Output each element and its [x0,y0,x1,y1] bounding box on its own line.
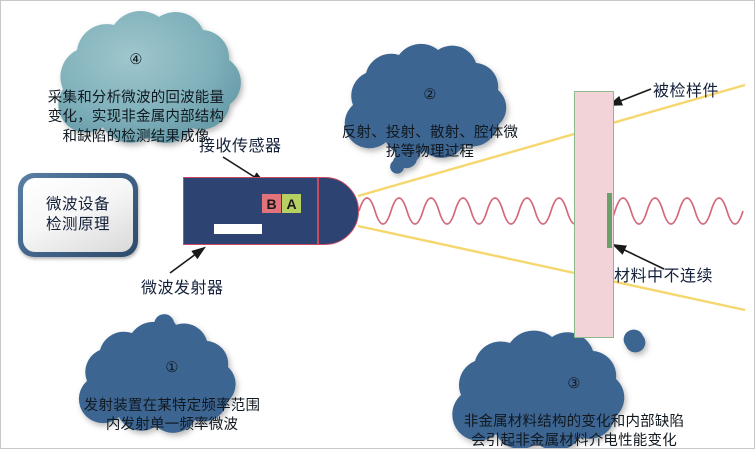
title-box-inner: 微波设备 检测原理 [23,178,133,252]
cloud-4-text: 采集和分析微波的回波能量 变化，实现非金属内部结构 和缺陷的检测结果成像 [48,90,224,145]
cloud-1-number: ① [73,359,271,377]
cloud-3-text: 非金属材料结构的变化和内部缺陷 会引起非金属材料介电性能变化 [464,414,685,449]
callout-test-specimen: 被检样件 [653,77,719,101]
microwave-inspection-diagram: 微波设备 检测原理 B A 接收传感器 微波发射器 被检样件 材料中不连续 ④ … [0,0,755,449]
material-discontinuity-marker [607,193,612,248]
probe-divider-line [317,178,319,244]
cloud-3-content: ③ 非金属材料结构的变化和内部缺陷 会引起非金属材料介电性能变化 [449,356,699,449]
badge-a: A [282,194,301,213]
title-box: 微波设备 检测原理 [18,173,138,257]
cloud-4-number: ④ [37,51,235,69]
badge-b: B [262,194,281,213]
microwave-probe-device: B A [183,177,359,245]
callout-microwave-emitter: 微波发射器 [141,274,224,298]
cloud-1-text: 发射装置在某特定频率范围 内发射单一频率微波 [84,398,260,433]
callout-material-discontinuity: 材料中不连续 [614,262,713,286]
probe-badges: B A [262,194,301,213]
cloud-2-text: 反射、投射、散射、腔体微 扰等物理过程 [342,125,518,160]
cloud-2-number: ② [341,86,519,104]
cloud-1-content: ① 发射装置在某特定频率范围 内发射单一频率微波 [73,340,271,436]
cloud-3-number: ③ [449,375,699,393]
cloud-2-content: ② 反射、投射、散射、腔体微 扰等物理过程 [341,67,519,163]
cloud-4-content: ④ 采集和分析微波的回波能量 变化，实现非金属内部结构 和缺陷的检测结果成像 [37,32,235,147]
microwave-sine-wave [359,198,743,224]
emitter-arrow [170,248,204,273]
probe-white-bar [214,224,262,234]
specimen-arrow [610,89,651,105]
title-box-label: 微波设备 检测原理 [46,195,110,236]
